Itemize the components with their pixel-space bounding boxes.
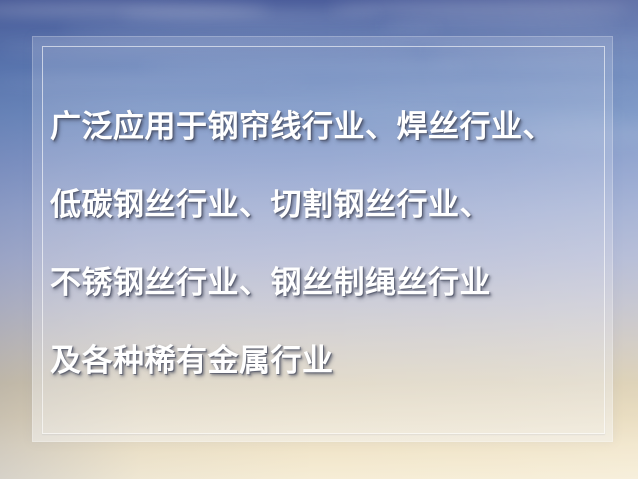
text-line-2: 低碳钢丝行业、切割钢丝行业、 [50, 166, 610, 244]
slide-body-text: 广泛应用于钢帘线行业、焊丝行业、 低碳钢丝行业、切割钢丝行业、 不锈钢丝行业、钢… [50, 88, 610, 400]
text-line-3: 不锈钢丝行业、钢丝制绳丝行业 [50, 244, 610, 322]
text-line-1: 广泛应用于钢帘线行业、焊丝行业、 [50, 88, 610, 166]
text-line-4: 及各种稀有金属行业 [50, 322, 610, 400]
presentation-slide: 广泛应用于钢帘线行业、焊丝行业、 低碳钢丝行业、切割钢丝行业、 不锈钢丝行业、钢… [0, 0, 638, 479]
